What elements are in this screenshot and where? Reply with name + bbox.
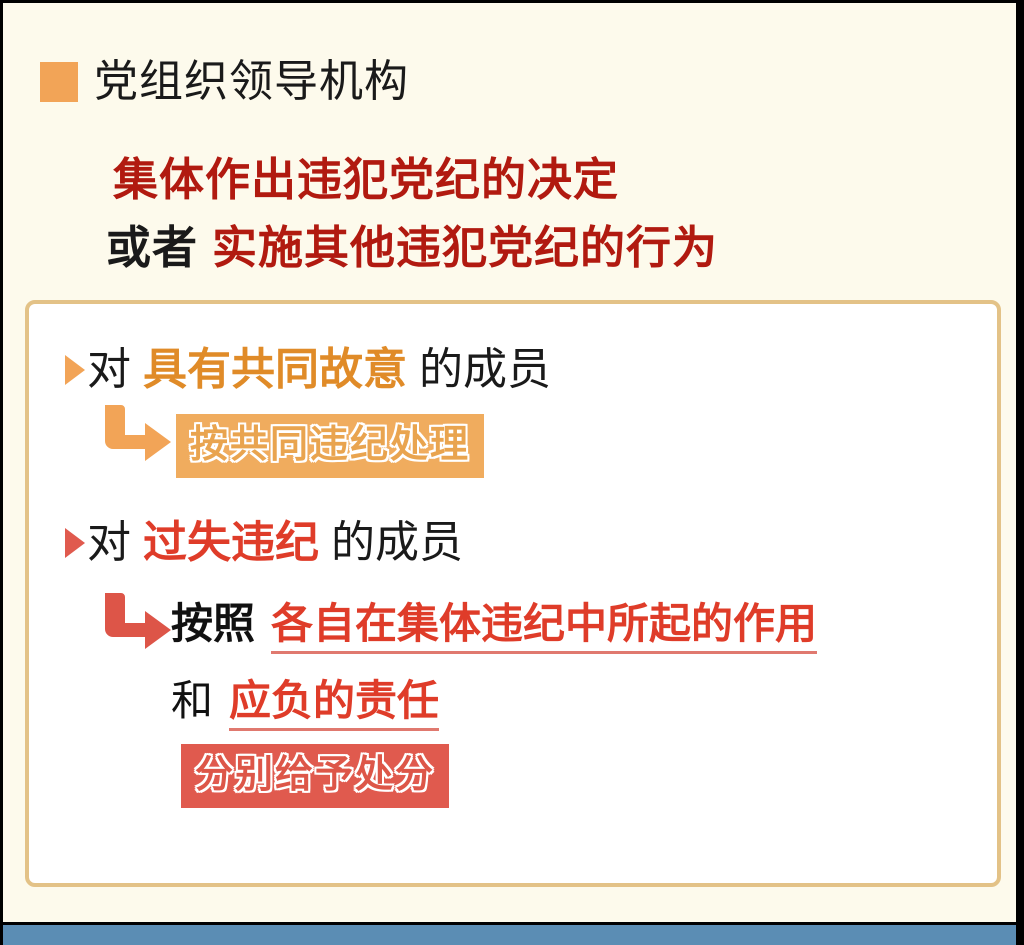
section-1-lead: 对 bbox=[87, 348, 131, 392]
headline-line-2-emphasis: 实施其他违犯党纪的行为 bbox=[212, 222, 718, 273]
section-1-emphasis: 具有共同故意 bbox=[143, 348, 407, 392]
section-1-tail: 的成员 bbox=[419, 348, 551, 392]
section-2-detail-line-2: 和 应负的责任 bbox=[171, 680, 439, 731]
section-2-lead: 对 bbox=[87, 521, 131, 565]
triangle-orange-icon bbox=[65, 355, 85, 385]
headline-line-1: 集体作出违犯党纪的决定 bbox=[113, 146, 973, 214]
page-title: 党组织领导机构 bbox=[94, 60, 409, 104]
headline-line-1-text: 集体作出违犯党纪的决定 bbox=[113, 154, 619, 205]
headline-line-2: 或者实施其他违犯党纪的行为 bbox=[106, 214, 973, 282]
section-2-detail-1-emphasis: 各自在集体违纪中所起的作用 bbox=[271, 603, 817, 654]
orange-square-bullet-icon bbox=[40, 62, 78, 102]
section-1-bullet: 对 具有共同故意 的成员 bbox=[65, 348, 551, 392]
section-1-badge: 按共同违纪处理 bbox=[176, 414, 484, 478]
bottom-accent-strip bbox=[0, 922, 1024, 945]
headline-line-2-prefix: 或者 bbox=[106, 222, 198, 273]
triangle-red-icon bbox=[65, 528, 85, 558]
section-2-badge: 分别给予处分 bbox=[181, 744, 449, 808]
section-2-tail: 的成员 bbox=[331, 521, 463, 565]
section-2-detail-2-emphasis: 应负的责任 bbox=[229, 680, 439, 731]
section-2-bullet: 对 过失违纪 的成员 bbox=[65, 521, 463, 565]
headline-block: 集体作出违犯党纪的决定 或者实施其他违犯党纪的行为 bbox=[113, 146, 973, 282]
elbow-arrow-red-icon bbox=[99, 591, 175, 653]
section-2-detail-2-prefix: 和 bbox=[171, 680, 213, 722]
section-2-emphasis: 过失违纪 bbox=[143, 521, 319, 565]
slide-canvas: 党组织领导机构 集体作出违犯党纪的决定 或者实施其他违犯党纪的行为 对 具有共同… bbox=[0, 0, 1024, 945]
section-2-detail-1-prefix: 按照 bbox=[171, 603, 255, 645]
header: 党组织领导机构 bbox=[40, 60, 409, 104]
section-2-detail-line-1: 按照 各自在集体违纪中所起的作用 bbox=[171, 603, 817, 654]
elbow-arrow-orange-icon bbox=[99, 403, 175, 465]
